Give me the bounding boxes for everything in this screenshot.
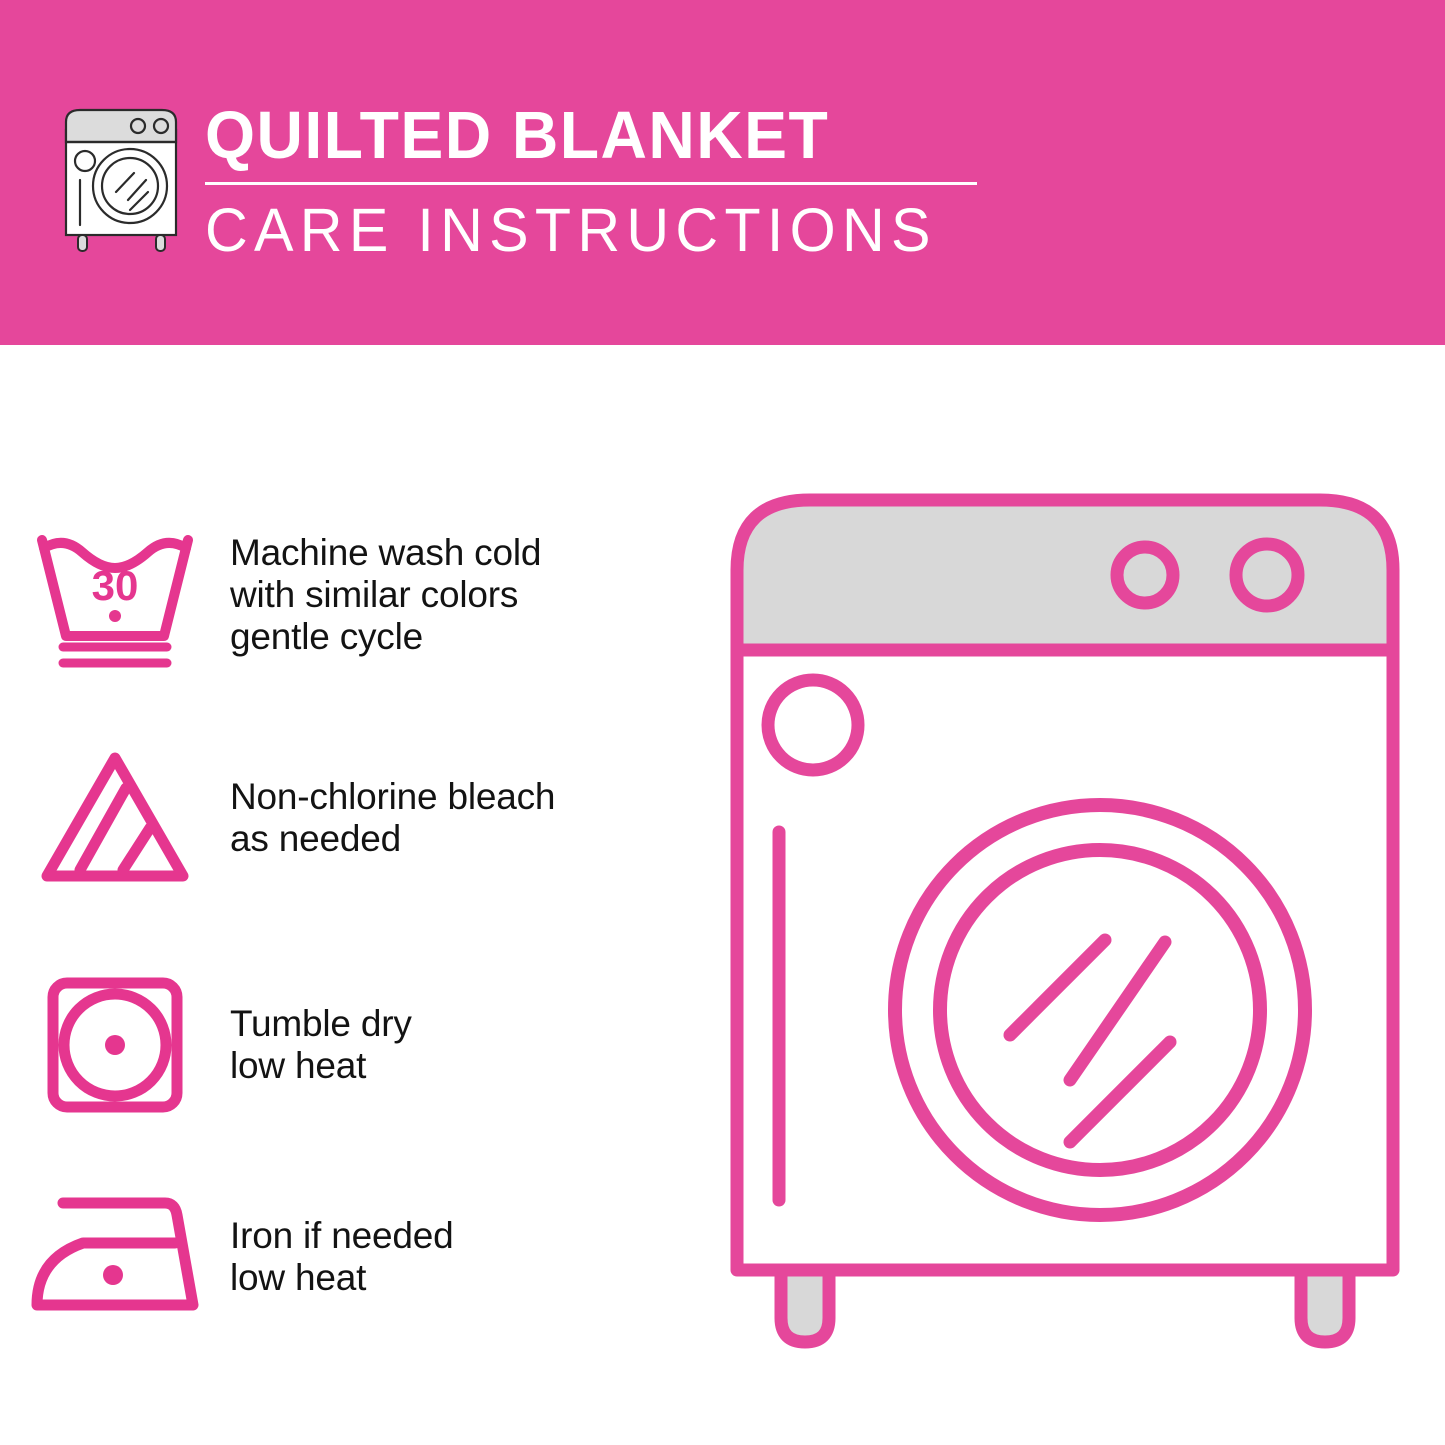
instruction-list: 30 Machine wash cold with similar colors…	[0, 345, 700, 1445]
instruction-text: Tumble dry low heat	[230, 1003, 412, 1087]
instruction-line: low heat	[230, 1045, 412, 1087]
care-instructions-infographic: QUILTED BLANKET CARE INSTRUCTIONS 30	[0, 0, 1445, 1445]
instruction-text: Iron if needed low heat	[230, 1215, 453, 1299]
instruction-line: gentle cycle	[230, 616, 541, 658]
instruction-row: Tumble dry low heat	[0, 945, 700, 1145]
instruction-row: Iron if needed low heat	[0, 1157, 700, 1357]
instruction-row: 30 Machine wash cold with similar colors…	[0, 495, 700, 695]
instruction-line: Machine wash cold	[230, 532, 541, 574]
header-banner: QUILTED BLANKET CARE INSTRUCTIONS	[0, 0, 1445, 345]
non-chlorine-bleach-triangle-icon	[0, 746, 230, 891]
iron-low-heat-icon	[0, 1187, 230, 1327]
leg-left	[781, 1270, 829, 1342]
title-divider	[205, 182, 977, 185]
header-title-block: QUILTED BLANKET CARE INSTRUCTIONS	[205, 100, 995, 263]
instruction-line: Non-chlorine bleach	[230, 776, 555, 818]
leg-right	[1301, 1270, 1349, 1342]
wash-temperature-value: 30	[92, 562, 139, 609]
instruction-line: with similar colors	[230, 574, 541, 616]
instruction-line: Tumble dry	[230, 1003, 412, 1045]
large-washing-machine-illustration	[715, 470, 1415, 1380]
instruction-row: Non-chlorine bleach as needed	[0, 718, 700, 918]
page-subtitle: CARE INSTRUCTIONS	[205, 197, 971, 263]
instruction-text: Machine wash cold with similar colors ge…	[230, 532, 541, 658]
washing-machine-icon	[58, 100, 193, 255]
instruction-line: as needed	[230, 818, 555, 860]
instruction-line: low heat	[230, 1257, 453, 1299]
tumble-dry-low-icon	[0, 970, 230, 1120]
wash-tub-30-gentle-icon: 30	[0, 518, 230, 673]
page-title: QUILTED BLANKET	[205, 100, 963, 172]
instruction-line: Iron if needed	[230, 1215, 453, 1257]
instruction-text: Non-chlorine bleach as needed	[230, 776, 555, 860]
knob-right-icon	[1236, 544, 1298, 606]
knob-left-icon	[1117, 547, 1173, 603]
